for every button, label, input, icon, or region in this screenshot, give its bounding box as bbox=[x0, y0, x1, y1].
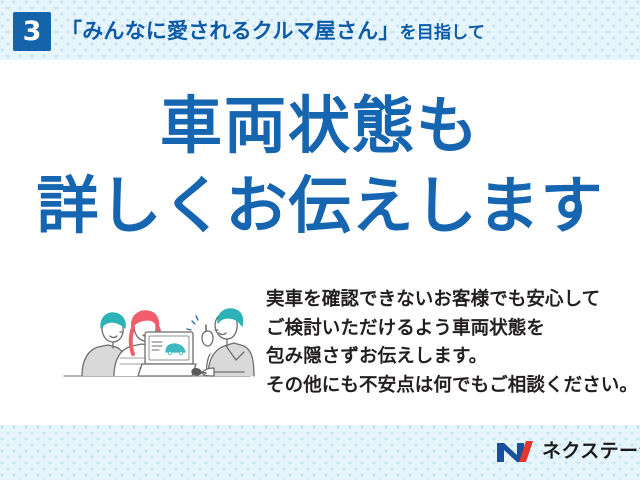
step-number-badge: 3 bbox=[13, 12, 51, 51]
step-number-label: 3 bbox=[23, 18, 42, 45]
salesperson bbox=[187, 309, 254, 376]
laptop bbox=[138, 332, 196, 376]
brand-name-label: ネクステージ bbox=[542, 439, 640, 464]
nextage-n-logo-icon bbox=[495, 439, 535, 464]
body-copy-line-1: 実車を確認できないお客様でも安心して bbox=[266, 286, 616, 315]
headline-line-1: 車両状態も bbox=[0, 95, 640, 157]
body-copy-line-3: 包み隠さずお伝えします。 bbox=[266, 343, 616, 372]
header-title-quoted: 「みんなに愛されるクルマ屋さん」 bbox=[61, 19, 400, 43]
brand-logo: ネクステージ bbox=[495, 437, 640, 465]
body-copy: 実車を確認できないお客様でも安心して ご検討いただけるよう車両状態を 包み隠さず… bbox=[266, 286, 616, 400]
header-title: 「みんなに愛されるクルマ屋さん」を目指して bbox=[61, 15, 485, 49]
headline: 車両状態も 詳しくお伝えします bbox=[0, 95, 640, 237]
header-title-suffix: を目指して bbox=[400, 23, 486, 43]
consultation-illustration bbox=[58, 276, 256, 388]
body-copy-line-2: ご検討いただけるよう車両状態を bbox=[266, 315, 616, 344]
body-copy-line-4: その他にも不安点は何でもご相談ください。 bbox=[266, 372, 616, 401]
advertisement-page: 3 「みんなに愛されるクルマ屋さん」を目指して 車両状態も 詳しくお伝えします bbox=[0, 0, 640, 480]
headline-line-2: 詳しくお伝えします bbox=[0, 175, 640, 237]
